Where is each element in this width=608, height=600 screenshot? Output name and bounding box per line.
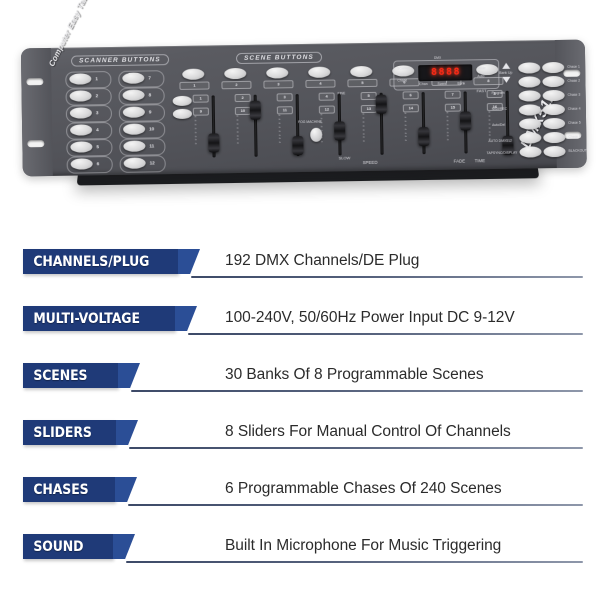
spec-tag-label: CHANNELS/PLUG — [23, 254, 159, 270]
fader-knob-4[interactable] — [334, 121, 345, 140]
fader-label-7: 7 — [445, 91, 461, 99]
mid-label-program: Program — [492, 91, 505, 95]
fader-label-4: 4 — [319, 93, 335, 101]
fader-knob-5[interactable] — [376, 95, 387, 114]
scene-button-3[interactable] — [266, 67, 288, 78]
fader-label-6: 6 — [403, 91, 419, 99]
bank-down-icon[interactable] — [502, 77, 510, 83]
scanner-button-5-number: 5 — [96, 144, 99, 149]
spec-description: 30 Banks Of 8 Programmable Scenes — [225, 362, 484, 388]
fader-knob-6[interactable] — [418, 127, 429, 146]
scanner-button-9-number: 9 — [149, 109, 152, 114]
spec-tag-channels-plug: CHANNELS/PLUG — [23, 249, 178, 274]
spec-divider — [131, 390, 583, 392]
fader-label-5: 5 — [361, 92, 377, 100]
spec-description: 6 Programmable Chases Of 240 Scenes — [225, 476, 502, 502]
scene-button-1[interactable] — [182, 69, 204, 80]
spec-row-sliders: SLIDERS 8 Sliders For Manual Control Of … — [0, 409, 608, 466]
time-label: TIME — [475, 159, 486, 163]
scene-button-4[interactable] — [308, 67, 330, 78]
scene-button-5-label: 5 — [347, 79, 377, 87]
spec-tag-tail — [178, 249, 200, 274]
spec-row-scenes: SCENES 30 Banks Of 8 Programmable Scenes — [0, 352, 608, 409]
speed-label: SPEED — [363, 161, 378, 165]
display-label-bank: Bank — [457, 81, 465, 85]
scanner-button-3-number: 3 — [96, 110, 99, 115]
spec-description: Built In Microphone For Music Triggering — [225, 533, 501, 559]
spec-divider — [188, 333, 583, 335]
scanner-button-6-number: 6 — [97, 161, 100, 166]
spec-tag-tail — [175, 306, 197, 331]
spec-row-chases: CHASES 6 Programmable Chases Of 240 Scen… — [0, 466, 608, 523]
spec-tag-label: SLIDERS — [23, 425, 101, 441]
blackout-button-label: BLACKOUT — [569, 149, 587, 153]
mid-label-midirec: MIDI/REC — [492, 107, 507, 111]
fader-label-3: 3 — [277, 93, 293, 101]
chase-button-2-label: Chase 2 — [567, 79, 580, 83]
page-a-button[interactable] — [173, 96, 192, 106]
scanner-button-10-number: 10 — [149, 126, 154, 131]
spec-tag-chases: CHASES — [23, 477, 115, 502]
dmx-controller-illustration: Computer Easy Table Controller DMX512 SC… — [21, 40, 587, 199]
scene-button-5[interactable] — [350, 66, 372, 77]
spec-divider — [128, 504, 583, 506]
spec-tag-label: MULTI-VOLTAGE — [23, 311, 149, 327]
spec-tag-sliders: SLIDERS — [23, 420, 116, 445]
mid-button-tapsync[interactable] — [519, 132, 541, 143]
fine-label: FINE — [338, 91, 346, 95]
fog-machine-knob[interactable] — [310, 128, 322, 142]
fader-label-2: 2 — [235, 94, 251, 102]
mid-button-extra[interactable] — [519, 146, 541, 157]
scene-button-2-label: 2 — [221, 81, 251, 89]
display-indicator-scanner: Scanner — [397, 66, 410, 70]
spec-row-multi-voltage: MULTI-VOLTAGE 100-240V, 50/60Hz Power In… — [0, 295, 608, 352]
chase-button-6-label: Chase 6 — [568, 135, 581, 139]
spec-description: 192 DMX Channels/DE Plug — [225, 248, 419, 274]
scanner-button-7-number: 7 — [148, 75, 151, 80]
rack-slot — [26, 78, 43, 85]
spec-description: 100-240V, 50/60Hz Power Input DC 9-12V — [225, 305, 515, 331]
specification-list: CHANNELS/PLUG 192 DMX Channels/DE Plug M… — [0, 238, 608, 600]
fog-machine-label: FOG MACHINE — [298, 120, 322, 125]
mid-button-program[interactable] — [518, 62, 540, 73]
mid-label-autodmx: AUTO DMX512 — [488, 139, 512, 144]
rack-slot — [27, 140, 44, 147]
fader-label-1: 1 — [193, 94, 209, 102]
spec-divider — [126, 561, 583, 563]
scanner-button-11-number: 11 — [149, 143, 154, 148]
scanner-button-2-number: 2 — [96, 93, 99, 98]
spec-row-sound: SOUND Built In Microphone For Music Trig… — [0, 523, 608, 580]
led-digit-3: 8 — [446, 68, 452, 78]
chase-button-5-label: Chase 5 — [568, 121, 581, 125]
scene-button-2[interactable] — [224, 68, 246, 79]
display-indicator-auto: Auto — [477, 74, 484, 78]
fader-knob-1[interactable] — [208, 133, 219, 152]
scene-button-3-label: 3 — [263, 80, 293, 88]
spec-tag-tail — [118, 363, 140, 388]
bank-up-label: Bank Up — [499, 71, 512, 75]
fader-scale-6: ≈≈≈≈≈≈≈≈ — [399, 112, 412, 143]
led-digit-2: 8 — [438, 68, 444, 78]
display-label-scene: Scene — [437, 82, 447, 86]
led-readout: 8 8 8 8 — [418, 64, 472, 81]
scanner-button-4-number: 4 — [96, 127, 99, 132]
display-top-label: DMX — [434, 56, 441, 60]
scene-button-4-label: 4 — [305, 80, 335, 88]
scene-buttons-section-label: SCENE BUTTONS — [236, 52, 322, 64]
led-digit-4: 8 — [453, 68, 459, 78]
spec-tag-tail — [113, 534, 135, 559]
spec-description: 8 Sliders For Manual Control Of Channels — [225, 419, 511, 445]
fader-knob-2[interactable] — [250, 101, 261, 120]
spec-tag-tail — [115, 477, 137, 502]
fader-scale-7: ≈≈≈≈≈≈≈≈ — [441, 112, 454, 143]
rack-ear-left — [21, 48, 53, 176]
spec-tag-scenes: SCENES — [23, 363, 118, 388]
led-digit-1: 8 — [431, 68, 437, 78]
display-indicator-chase: Chase — [397, 78, 407, 82]
mid-button-midirec[interactable] — [518, 76, 540, 87]
console-faceplate: Computer Easy Table Controller DMX512 SC… — [21, 40, 587, 177]
chase-button-3-label: Chase 3 — [568, 93, 581, 97]
fader-scale-3: ≈≈≈≈≈≈≈≈ — [273, 114, 286, 145]
spec-divider — [129, 447, 583, 449]
spec-tag-multi-voltage: MULTI-VOLTAGE — [23, 306, 175, 331]
fader-knob-3[interactable] — [292, 136, 303, 155]
fade-label: FADE — [454, 159, 466, 163]
scanner-buttons-section-label: SCANNER BUTTONS — [71, 54, 169, 67]
scanner-button-1-number: 1 — [95, 76, 98, 81]
display-indicator-scene: Scene — [397, 72, 407, 76]
product-photo: Computer Easy Table Controller DMX512 SC… — [0, 0, 608, 238]
chase-button-1-label: Chase 1 — [567, 65, 580, 69]
display-indicator-mode: Mode — [477, 66, 486, 70]
mid-label-tapsync: TAPSYNC/DISPLAY — [487, 151, 518, 156]
mid-button-autodel[interactable] — [519, 90, 541, 101]
fader-scale-1: ≈≈≈≈≈≈≈≈ — [189, 116, 202, 147]
bank-up-icon[interactable] — [502, 63, 510, 69]
fader-scale-2: ≈≈≈≈≈≈≈≈ — [231, 115, 244, 146]
spec-tag-tail — [116, 420, 138, 445]
rack-slot — [563, 70, 580, 77]
speed-max-label: FAST — [477, 89, 487, 93]
scene-button-1-label: 1 — [179, 81, 209, 89]
speed-min-label: SLOW — [339, 156, 351, 160]
scanner-button-8-number: 8 — [149, 92, 152, 97]
led-display-module: DMX Scanner Scene Chase 8 8 8 8 Mode Aut… — [393, 59, 499, 91]
mid-label-autodel: Auto/Del — [492, 123, 505, 127]
chase-button-4-label: Chase 4 — [568, 107, 581, 111]
fader-knob-7[interactable] — [460, 111, 471, 130]
display-label-chan: Chan — [419, 82, 427, 86]
spec-tag-label: SCENES — [23, 368, 97, 384]
spec-divider — [191, 276, 583, 278]
spec-tag-label: CHASES — [23, 482, 98, 498]
spec-tag-label: SOUND — [23, 539, 93, 555]
scanner-button-12-number: 12 — [150, 160, 155, 165]
fader-scale-5: ≈≈≈≈≈≈≈≈ — [357, 113, 370, 144]
spec-row-channels-plug: CHANNELS/PLUG 192 DMX Channels/DE Plug — [0, 238, 608, 295]
spec-tag-sound: SOUND — [23, 534, 113, 559]
